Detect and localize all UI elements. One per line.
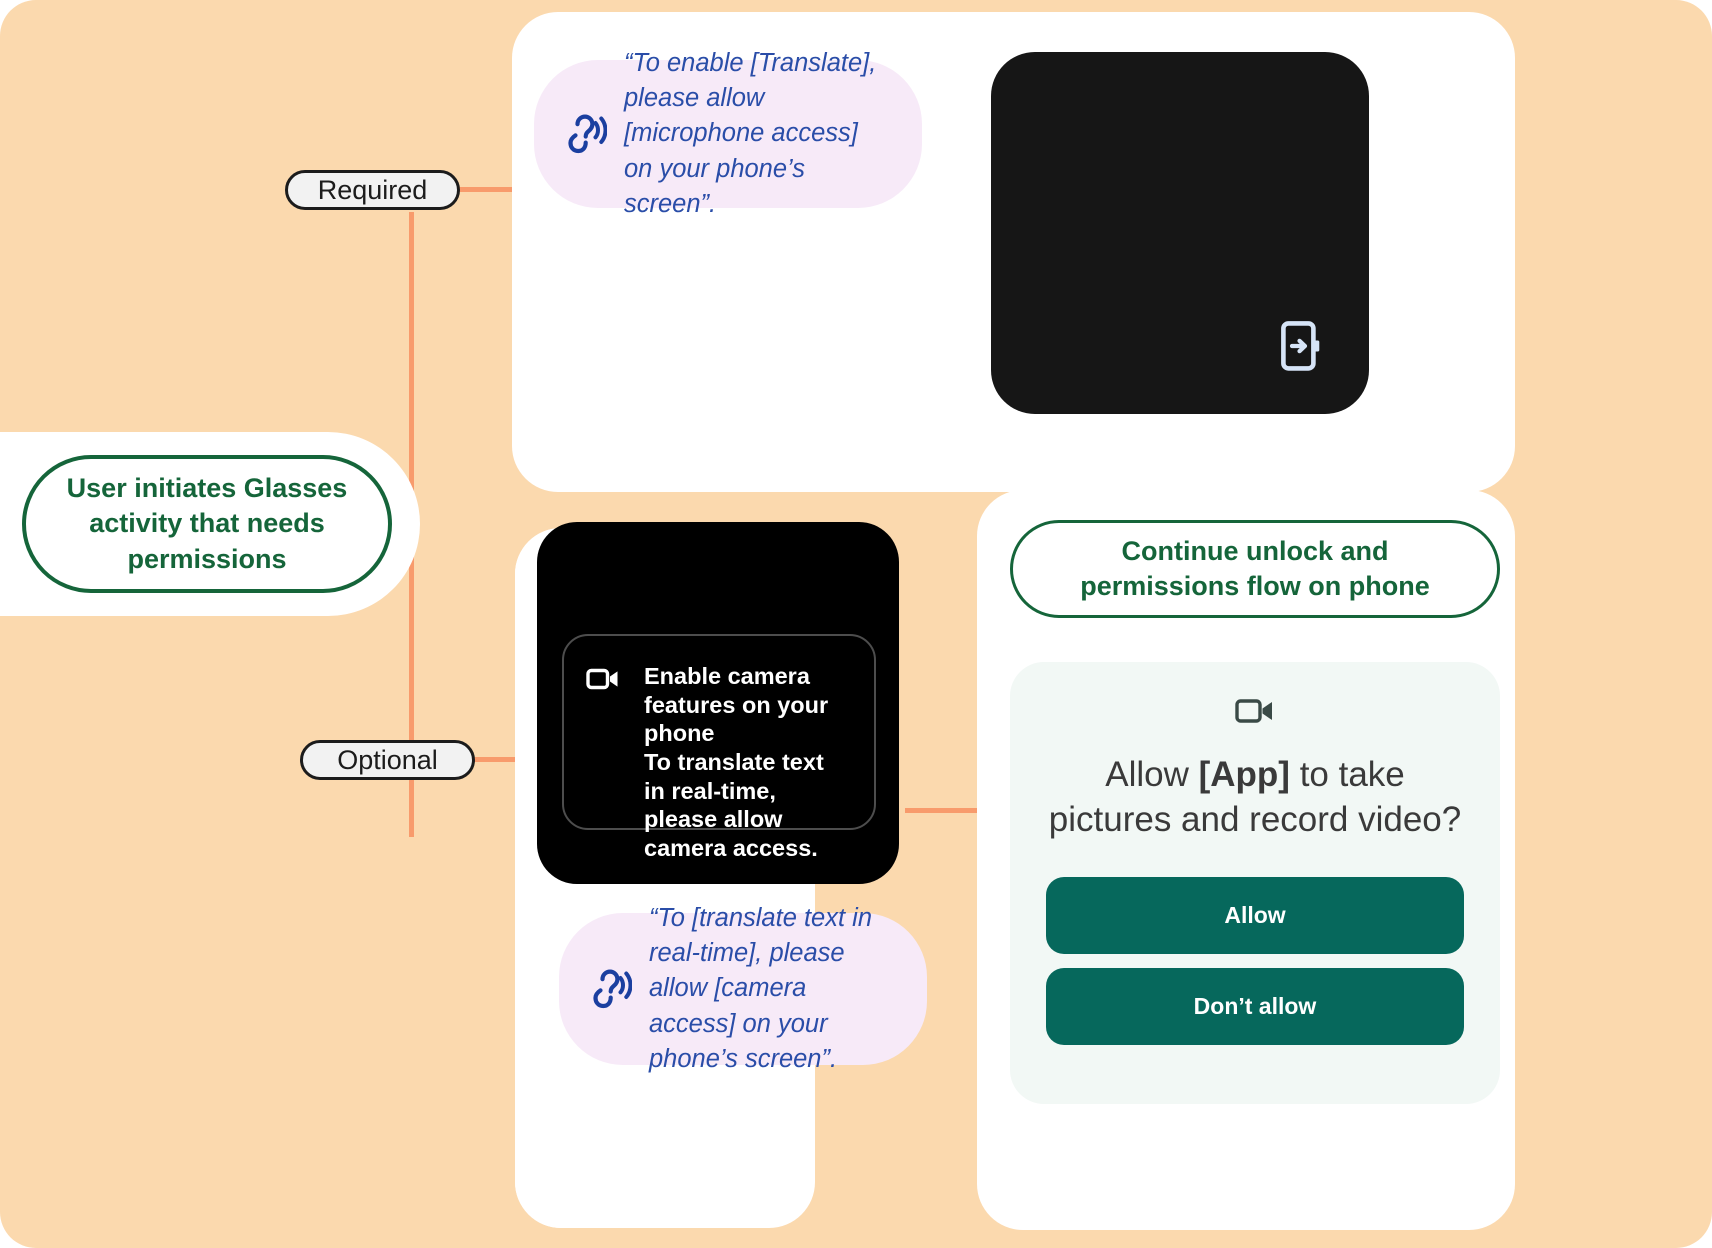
camera-permission-notification-card[interactable]: Enable camera features on your phone To …	[562, 634, 876, 830]
phone-exit-arrow-icon	[1281, 321, 1321, 376]
flow-diagram-canvas: User initiates Glasses activity that nee…	[0, 0, 1712, 1248]
hearing-icon	[558, 112, 610, 156]
required-branch-bubble: “To enable [Translate], please allow [mi…	[534, 60, 922, 208]
permission-question-app: [App]	[1199, 755, 1290, 794]
required-branch-bubble-text: “To enable [Translate], please allow [mi…	[624, 46, 892, 222]
camera-notification-description: To translate text in real-time, please a…	[644, 749, 824, 861]
video-camera-icon	[586, 662, 628, 697]
phone-flow-headline-label: Continue unlock and permissions flow on …	[1039, 534, 1471, 603]
optional-branch-bubble: “To [translate text in real-time], pleas…	[559, 913, 927, 1065]
optional-branch-bubble-text: “To [translate text in real-time], pleas…	[649, 901, 897, 1077]
start-node: User initiates Glasses activity that nee…	[22, 455, 392, 593]
branch-pill-optional[interactable]: Optional	[300, 740, 475, 780]
camera-notification-title: Enable camera features on your phone	[644, 663, 828, 746]
permission-question: Allow [App] to take pictures and record …	[1046, 753, 1464, 843]
allow-button[interactable]: Allow	[1046, 877, 1464, 954]
android-permission-dialog: Allow [App] to take pictures and record …	[1010, 662, 1500, 1104]
dont-allow-button[interactable]: Don’t allow	[1046, 968, 1464, 1045]
camera-notification-body: Enable camera features on your phone To …	[644, 662, 850, 863]
permission-question-prefix: Allow	[1105, 755, 1198, 794]
hearing-icon	[583, 967, 635, 1011]
phone-flow-headline: Continue unlock and permissions flow on …	[1010, 520, 1500, 618]
connector-required-to-bubble	[457, 187, 519, 192]
branch-pill-optional-label: Optional	[337, 745, 438, 776]
video-camera-icon	[1235, 696, 1275, 731]
glasses-screen-required	[991, 52, 1369, 414]
branch-pill-required-label: Required	[318, 175, 428, 206]
branch-pill-required[interactable]: Required	[285, 170, 460, 210]
start-node-label: User initiates Glasses activity that nee…	[26, 471, 388, 578]
